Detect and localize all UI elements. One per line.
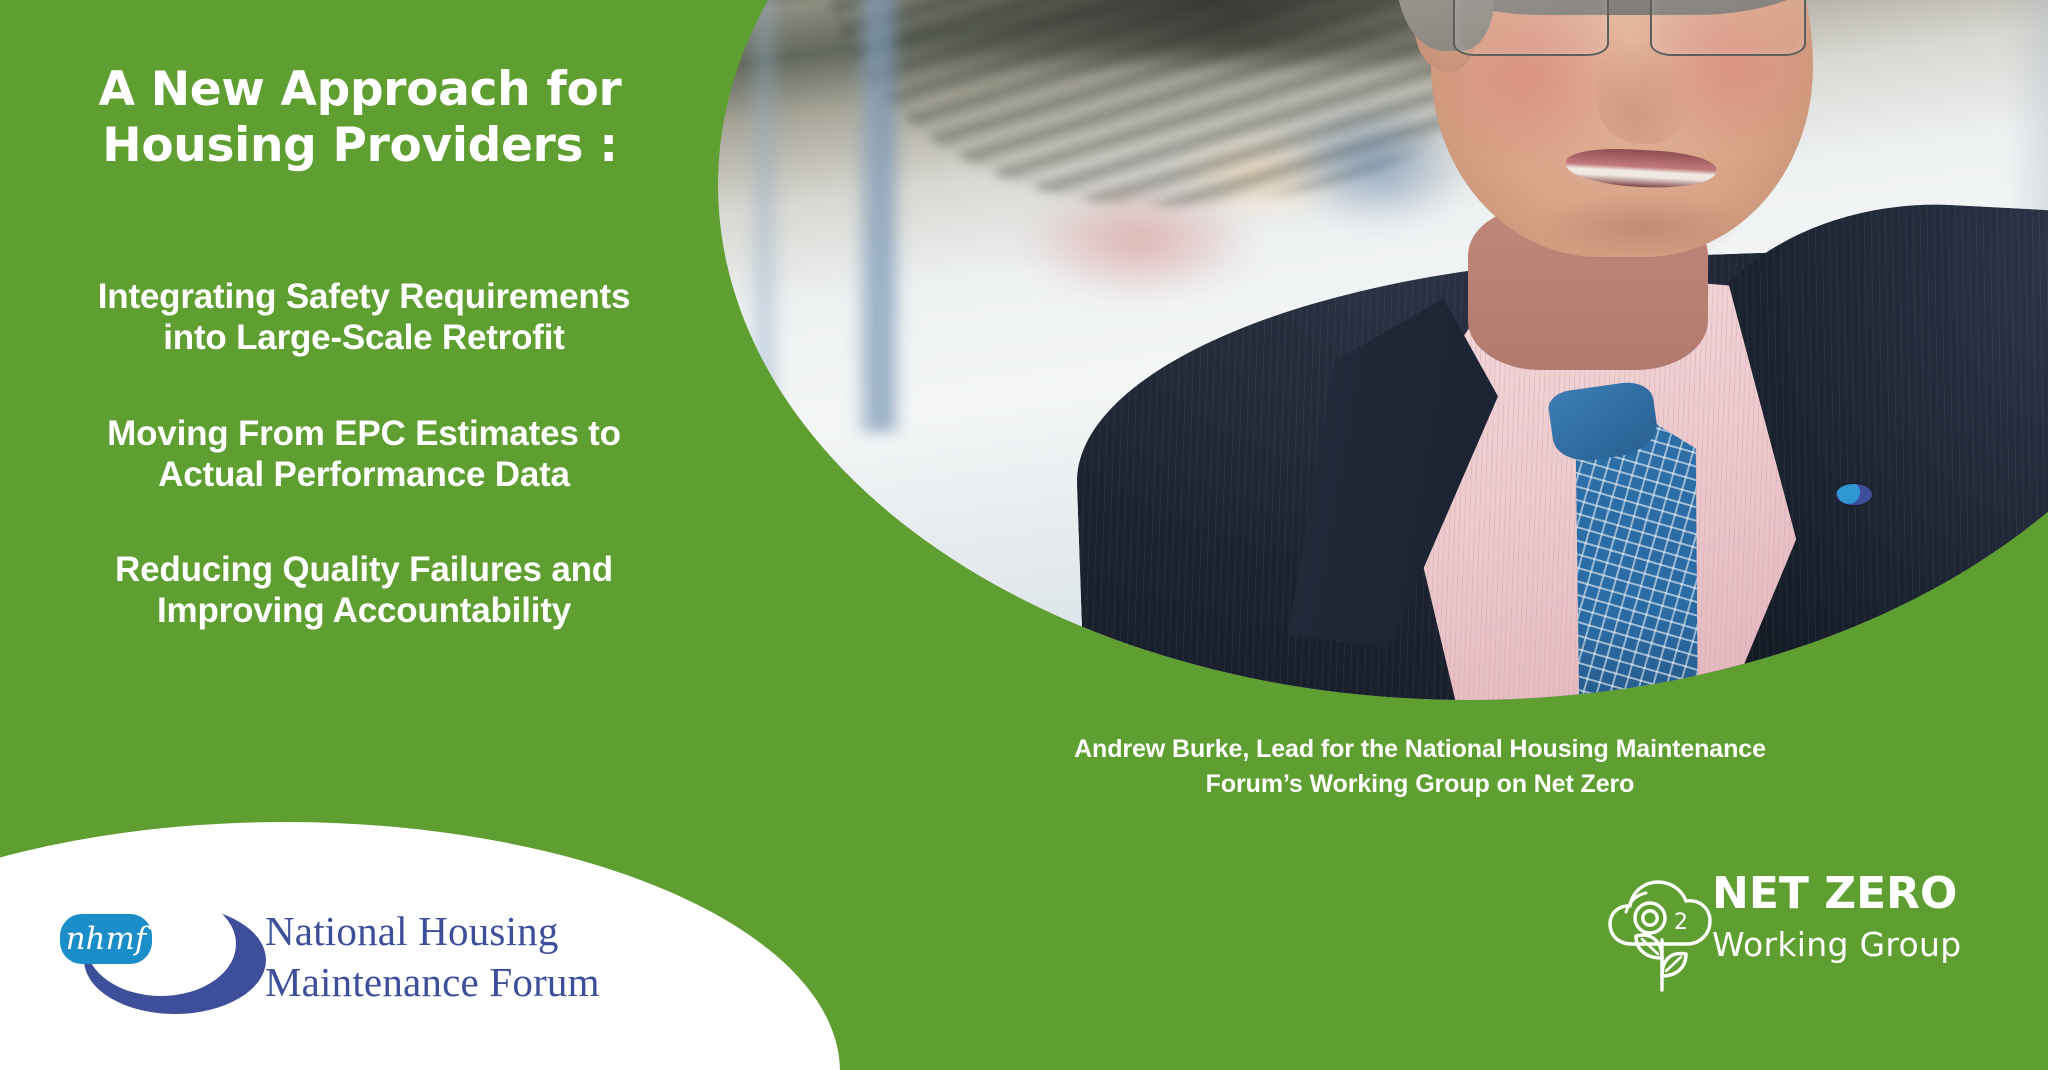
speaker-photo: [718, 0, 2048, 700]
title-line-2: Housing Providers :: [0, 118, 720, 174]
list-item: Integrating Safety Requirements into Lar…: [0, 276, 728, 359]
page-title: A New Approach for Housing Providers :: [0, 62, 720, 174]
nhmf-logo: nhmf National Housing Maintenance Forum: [60, 900, 680, 1020]
caption-line-2: Forum’s Working Group on Net Zero: [1070, 767, 1770, 802]
list-item-line-1: Integrating Safety Requirements: [0, 276, 728, 317]
list-item: Moving From EPC Estimates to Actual Perf…: [0, 413, 728, 496]
list-item-line-2: Actual Performance Data: [0, 454, 728, 495]
net-zero-wordmark: NET ZERO Working Group: [1712, 872, 1961, 961]
list-item-line-2: into Large-Scale Retrofit: [0, 317, 728, 358]
caption-line-1: Andrew Burke, Lead for the National Hous…: [1070, 732, 1770, 767]
nhmf-wordmark-line-1: National Housing: [265, 906, 600, 957]
lens-left: [1453, 0, 1609, 56]
photo-background: [718, 0, 2048, 700]
bullet-list: Integrating Safety Requirements into Lar…: [0, 276, 728, 632]
nhmf-wordmark: National Housing Maintenance Forum: [265, 906, 600, 1009]
nose: [1596, 41, 1694, 144]
net-zero-subtitle: Working Group: [1712, 928, 1961, 961]
person-figure: [718, 0, 2048, 700]
photo-caption: Andrew Burke, Lead for the National Hous…: [1070, 732, 1770, 801]
nhmf-lapel-pin-icon: [1836, 484, 1872, 506]
svg-text:2: 2: [1674, 910, 1688, 935]
list-item-line-1: Moving From EPC Estimates to: [0, 413, 728, 454]
nhmf-badge-icon: nhmf: [60, 914, 152, 964]
net-zero-working-group-logo: 2 NET ZERO Working Group: [1596, 866, 2008, 994]
nhmf-wordmark-line-2: Maintenance Forum: [265, 957, 600, 1008]
cloud-o2-plant-icon: 2: [1596, 866, 1728, 994]
list-item-line-2: Improving Accountability: [0, 590, 728, 631]
nhmf-logo-mark: nhmf: [60, 900, 270, 1020]
presentation-slide: A New Approach for Housing Providers : I…: [0, 0, 2048, 1070]
net-zero-title: NET ZERO: [1712, 872, 1961, 916]
title-line-1: A New Approach for: [0, 62, 720, 118]
list-item-line-1: Reducing Quality Failures and: [0, 549, 728, 590]
list-item: Reducing Quality Failures and Improving …: [0, 549, 728, 632]
chin-shadow: [1543, 195, 1738, 257]
